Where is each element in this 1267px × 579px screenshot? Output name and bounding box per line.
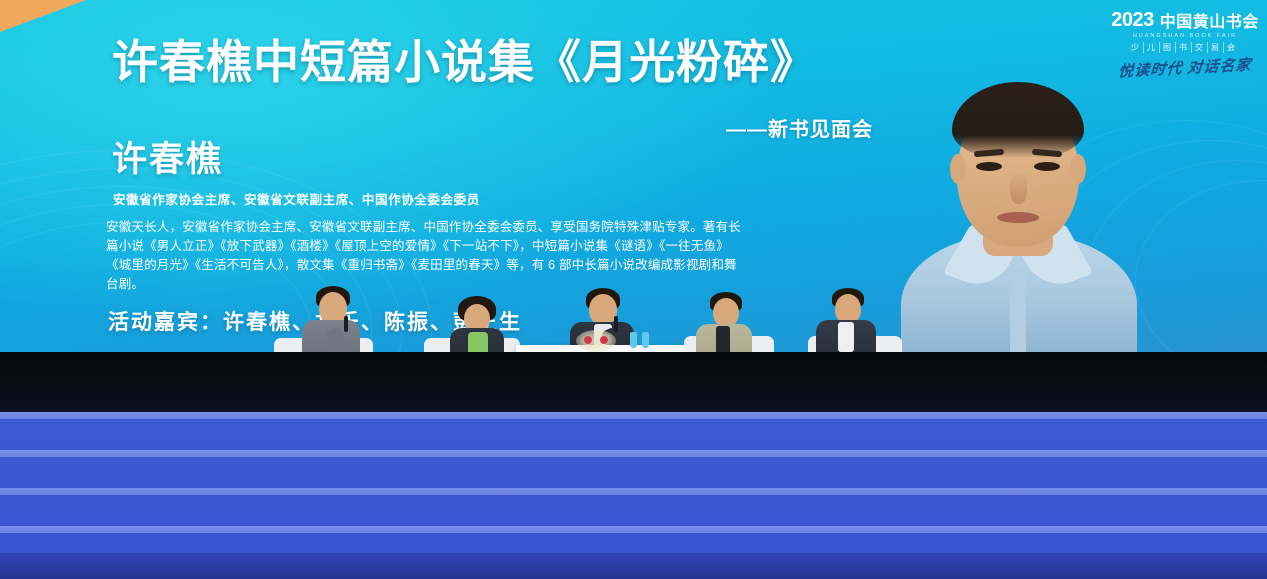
logo-sub-char: 交 <box>1195 42 1208 53</box>
step-edge <box>0 412 1267 419</box>
portrait-hair <box>952 82 1084 158</box>
portrait-nose <box>1010 172 1027 204</box>
logo-name-cn: 中国黄山书会 <box>1160 8 1259 32</box>
portrait-eye-left <box>976 162 1002 171</box>
table-flower-red <box>600 336 608 344</box>
water-bottle <box>630 332 637 348</box>
logo-year: 2023 <box>1111 9 1154 32</box>
book-fair-logo: 2023 中国黄山书会 HUANGSHAN BOOK FAIR 少 儿 图 书 … <box>1111 8 1259 78</box>
table-flower-red <box>584 336 592 344</box>
stage-dark-band <box>0 352 1267 412</box>
table-flower-arrangement <box>576 330 616 352</box>
logo-subtitle-row: 少 儿 图 书 交 易 会 <box>1111 42 1259 53</box>
author-titles: 安徽省作家协会主席、安徽省文联副主席、中国作协全委会委员 <box>113 189 480 208</box>
panelist-head <box>589 294 617 325</box>
logo-title-row: 2023 中国黄山书会 <box>1111 8 1259 32</box>
page-title: 许春樵中短篇小说集《月光粉碎》 <box>112 33 817 91</box>
orange-corner-accent <box>0 0 86 32</box>
logo-sub-char: 少 <box>1131 42 1144 53</box>
portrait-shirt-placket <box>1010 272 1026 352</box>
portrait-mouth <box>997 212 1039 223</box>
step-edge <box>0 450 1267 457</box>
microphone <box>614 316 618 332</box>
logo-sub-char: 会 <box>1227 42 1239 53</box>
logo-sub-char: 书 <box>1179 42 1192 53</box>
logo-name-en: HUANGSHAN BOOK FAIR <box>1111 33 1259 39</box>
author-name: 许春樵 <box>112 131 223 182</box>
portrait-ear-right <box>1070 154 1086 184</box>
stage-floor-base <box>0 553 1267 579</box>
step-edge <box>0 488 1267 495</box>
event-stage-photo: 许春樵中短篇小说集《月光粉碎》 ——新书见面会 许春樵 安徽省作家协会主席、安徽… <box>0 0 1267 579</box>
portrait-eye-right <box>1034 162 1060 171</box>
logo-sub-char: 儿 <box>1147 42 1160 53</box>
panelist-head <box>713 298 739 327</box>
author-portrait-photo <box>903 62 1133 352</box>
step-edge <box>0 526 1267 533</box>
stage-steps <box>0 412 1267 579</box>
logo-sub-char: 图 <box>1163 42 1176 53</box>
event-subtitle: ——新书见面会 <box>726 113 873 142</box>
water-bottle <box>642 332 649 348</box>
panelist-shirt <box>838 322 854 352</box>
logo-sub-char: 易 <box>1211 42 1224 53</box>
author-biography: 安徽天长人，安徽省作家协会主席、安徽省文联副主席、中国作协全委会委员、享受国务院… <box>106 218 746 294</box>
microphone <box>344 316 348 332</box>
portrait-ear-left <box>950 154 966 184</box>
